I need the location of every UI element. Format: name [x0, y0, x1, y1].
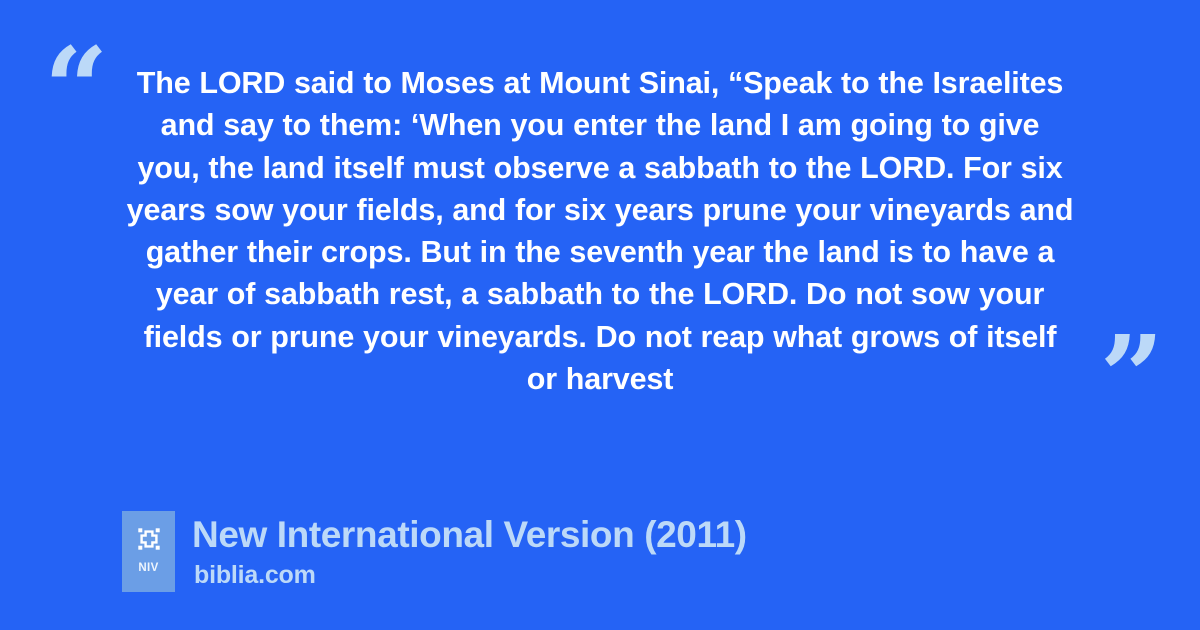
- quote-text-block: The LORD said to Moses at Mount Sinai, “…: [126, 62, 1074, 400]
- version-badge: NIV: [122, 511, 175, 592]
- closing-quote-icon: ”: [1100, 322, 1162, 434]
- site-url-label: biblia.com: [194, 560, 747, 590]
- attribution: NIV New International Version (2011) bib…: [122, 511, 747, 592]
- bible-verse-quote-card: “ The LORD said to Moses at Mount Sinai,…: [0, 0, 1200, 630]
- version-badge-label: NIV: [138, 563, 158, 575]
- crop-marks-cross-icon: [134, 524, 164, 554]
- quote-passage-text: The LORD said to Moses at Mount Sinai, “…: [126, 62, 1074, 400]
- attribution-text: New International Version (2011) biblia.…: [192, 511, 747, 590]
- opening-quote-icon: “: [44, 34, 106, 146]
- bible-version-title: New International Version (2011): [192, 513, 747, 557]
